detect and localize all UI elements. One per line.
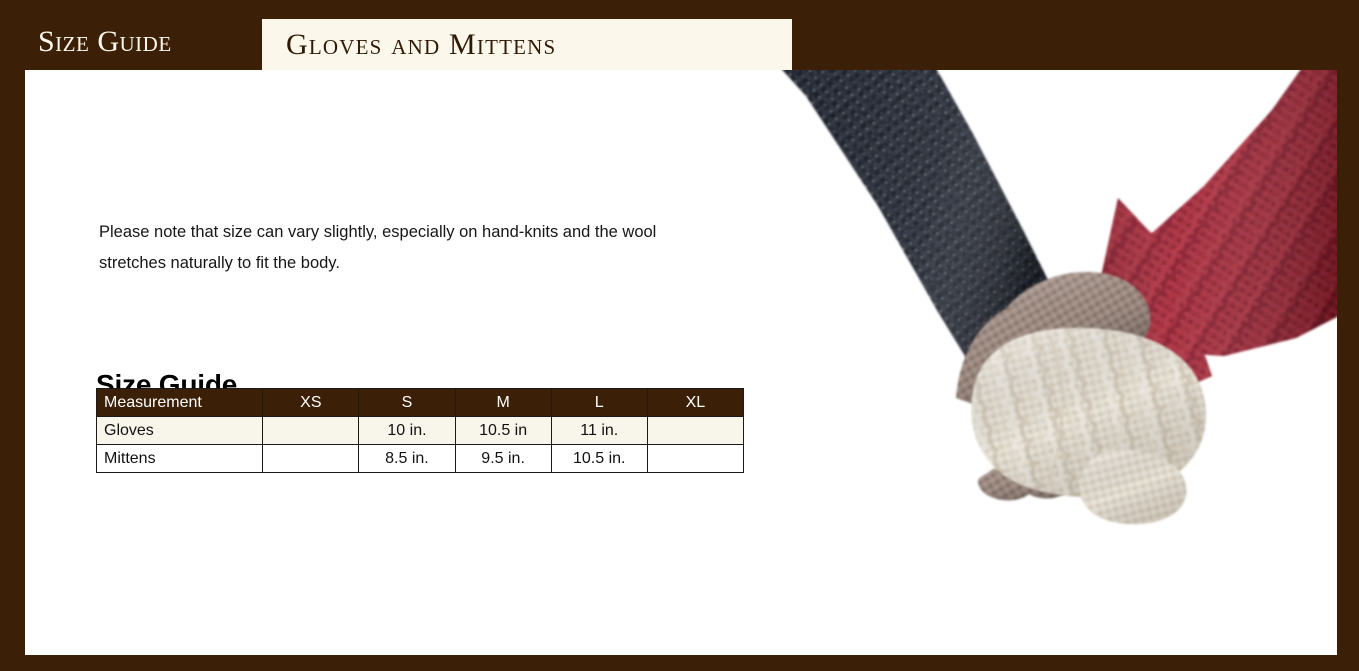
column-header-measurement: Measurement: [97, 389, 263, 417]
column-header-s: S: [359, 389, 455, 417]
section-tab: Gloves and Mittens: [262, 19, 792, 70]
hands-photo-illustration: [620, 70, 1337, 655]
column-header-xl: XL: [647, 389, 743, 417]
column-header-l: L: [551, 389, 647, 417]
cell-gloves-m: 10.5 in: [455, 417, 551, 445]
section-title: Gloves and Mittens: [286, 19, 556, 70]
brand-title: Size Guide: [38, 19, 172, 65]
cell-gloves-l: 11 in.: [551, 417, 647, 445]
table-header-row: Measurement XS S M L XL: [97, 389, 744, 417]
size-guide-table: Measurement XS S M L XL Gloves 10 in. 10…: [96, 388, 744, 473]
size-guide-page: Please note that size can vary slightly,…: [0, 0, 1359, 671]
cell-mittens-l: 10.5 in.: [551, 445, 647, 473]
header-bar: Size Guide Gloves and Mittens: [0, 0, 1359, 70]
size-note-text: Please note that size can vary slightly,…: [99, 217, 714, 279]
cell-mittens-xl: [647, 445, 743, 473]
cell-mittens-s: 8.5 in.: [359, 445, 455, 473]
cell-gloves-s: 10 in.: [359, 417, 455, 445]
cell-gloves-xl: [647, 417, 743, 445]
row-label-gloves: Gloves: [97, 417, 263, 445]
table-row-gloves: Gloves 10 in. 10.5 in 11 in.: [97, 417, 744, 445]
content-panel: Please note that size can vary slightly,…: [25, 70, 1337, 655]
cell-mittens-m: 9.5 in.: [455, 445, 551, 473]
column-header-m: M: [455, 389, 551, 417]
hands-photo: [620, 70, 1337, 655]
column-header-xs: XS: [263, 389, 359, 417]
row-label-mittens: Mittens: [97, 445, 263, 473]
cell-mittens-xs: [263, 445, 359, 473]
cell-gloves-xs: [263, 417, 359, 445]
table-row-mittens: Mittens 8.5 in. 9.5 in. 10.5 in.: [97, 445, 744, 473]
